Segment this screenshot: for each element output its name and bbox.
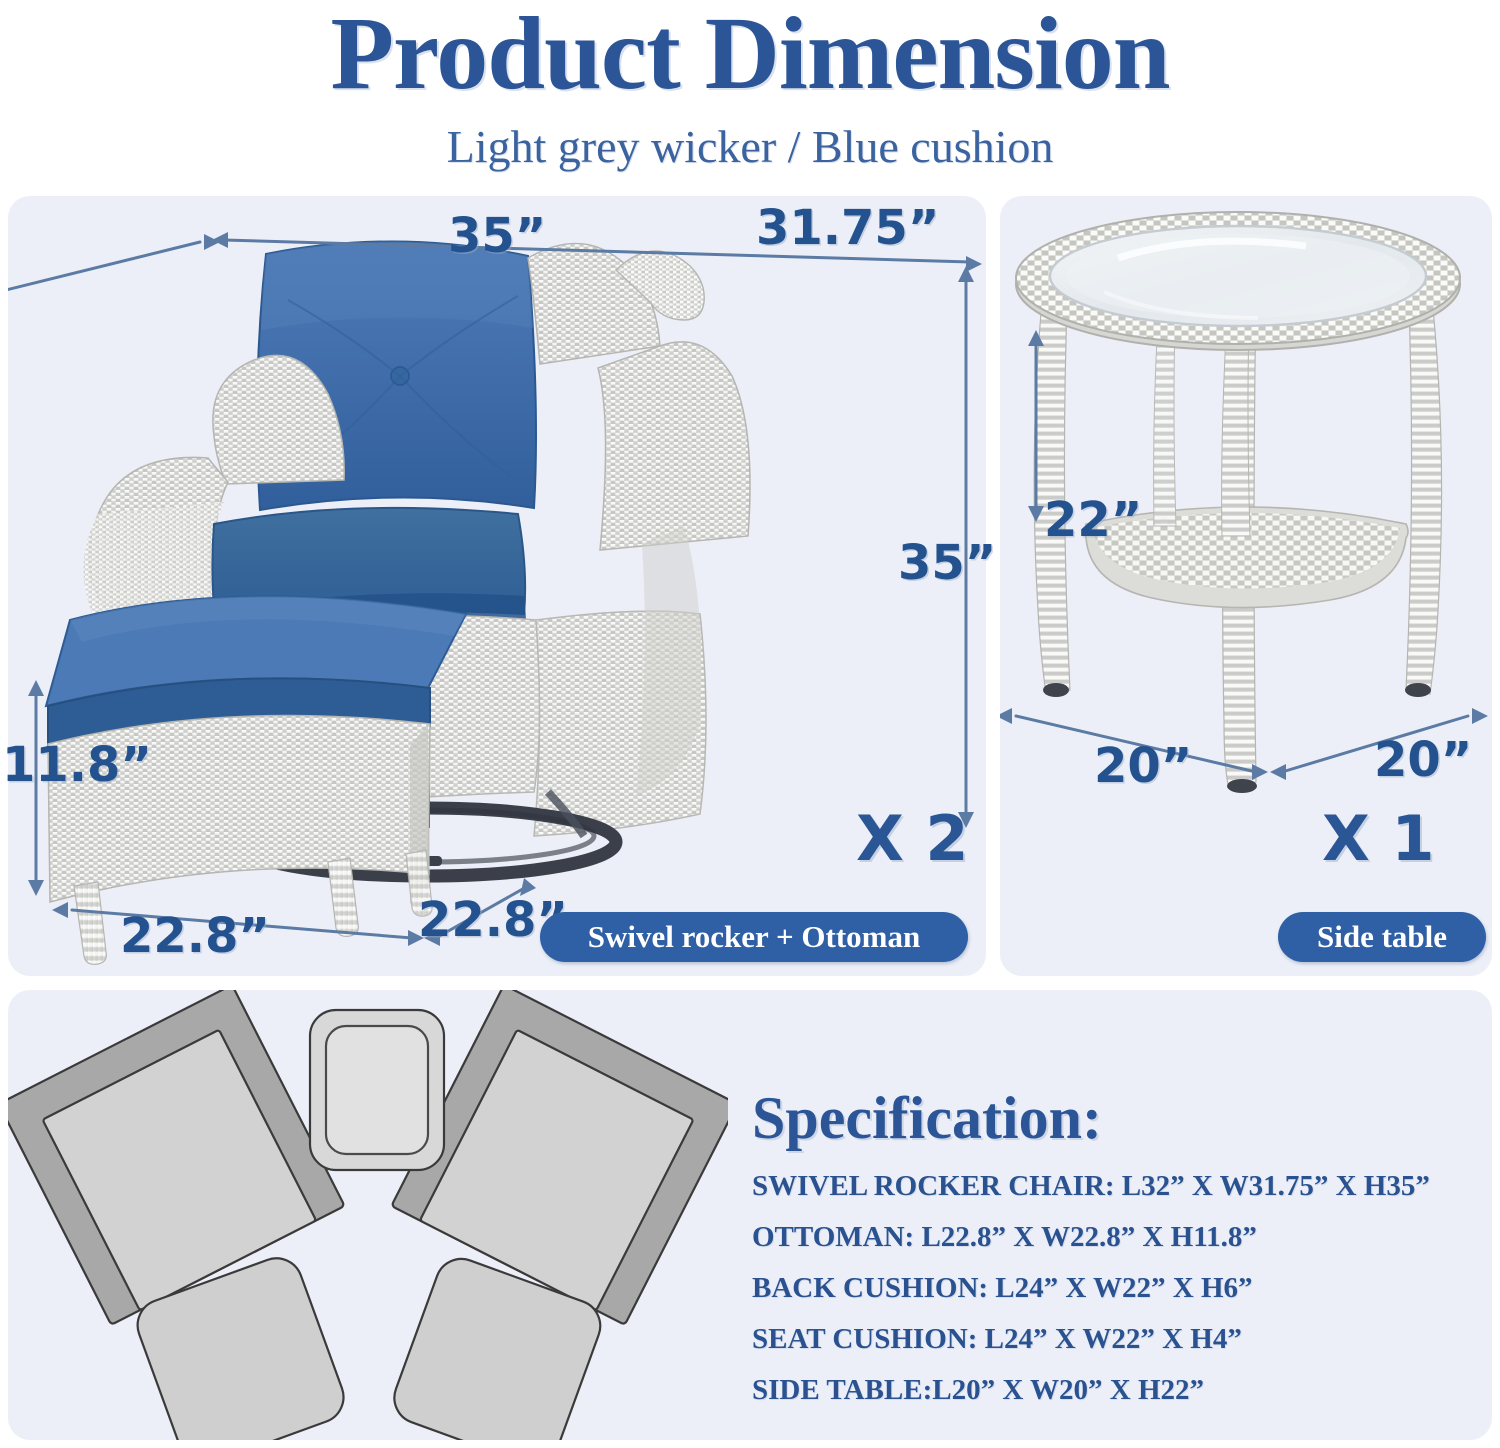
specification-list: SWIVEL ROCKER CHAIR: L32” X W31.75” X H3… (752, 1172, 1492, 1427)
badge-side-table: Side table (1278, 912, 1486, 962)
page-title: Product Dimension (0, 0, 1500, 113)
spec-line-seat-cushion: SEAT CUSHION: L24” X W22” X H4” (752, 1325, 1492, 1354)
spec-line-side-table: SIDE TABLE:L20” X W20” X H22” (752, 1376, 1492, 1405)
dim-ottoman-height: 11.8” (2, 741, 152, 789)
specification-title: Specification: (752, 1088, 1102, 1148)
chair-ottoman-illustration (8, 196, 986, 976)
spec-line-swivel-rocker-chair: SWIVEL ROCKER CHAIR: L32” X W31.75” X H3… (752, 1172, 1492, 1201)
dim-chair-depth: 35” (448, 212, 546, 260)
top-down-layout-diagram: .seat { fill:#d2d2d2; stroke:#3a3a3a; st… (8, 990, 728, 1440)
table-quantity: X 1 (1322, 808, 1435, 870)
spec-line-back-cushion: BACK CUSHION: L24” X W22” X H6” (752, 1274, 1492, 1303)
dim-table-width: 20” (1374, 736, 1472, 784)
chair-ottoman-panel: 35” 31.75” 35” 11.8” 22.8” 22.8” X 2 (8, 196, 986, 976)
badge-swivel-rocker-ottoman: Swivel rocker + Ottoman (540, 912, 968, 962)
dim-table-depth: 20” (1094, 742, 1192, 790)
side-table-panel: 22” 20” 20” X 1 (1000, 196, 1492, 976)
dim-table-height: 22” (1044, 496, 1142, 544)
page-subtitle: Light grey wicker / Blue cushion (0, 120, 1500, 173)
chair-quantity: X 2 (856, 808, 969, 870)
dim-chair-height: 35” (898, 539, 996, 587)
page-header: Product Dimension Light grey wicker / Bl… (0, 0, 1500, 190)
dim-ottoman-width: 22.8” (120, 912, 270, 960)
layout-side-table (310, 1010, 444, 1170)
dim-chair-width: 31.75” (756, 204, 939, 252)
spec-line-ottoman: OTTOMAN: L22.8” X W22.8” X H11.8” (752, 1223, 1492, 1252)
